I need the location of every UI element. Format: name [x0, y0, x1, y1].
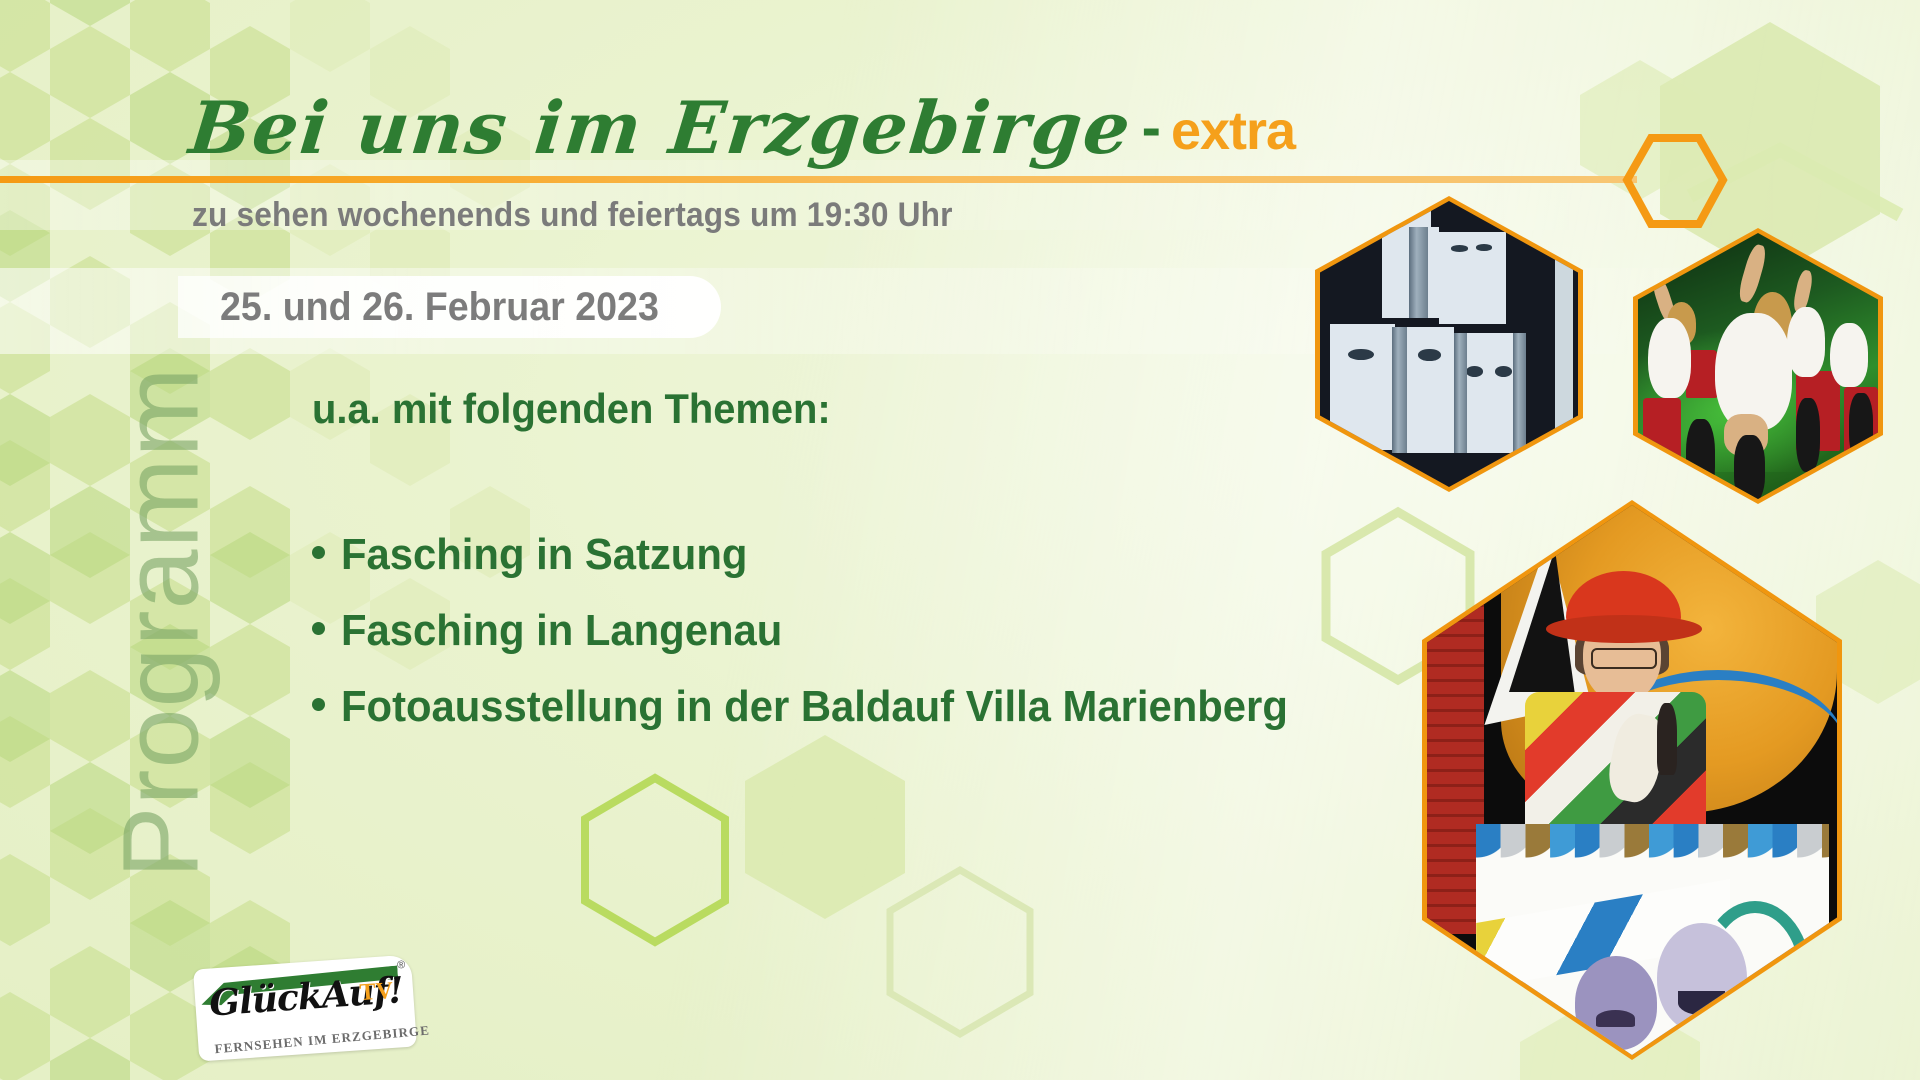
- list-item: Fasching in Satzung: [312, 530, 1338, 580]
- photo-artwork: [1320, 201, 1578, 487]
- poster-canvas: Programm Bei uns im Erzgebirge-extra zu …: [0, 0, 1920, 1080]
- list-item-label: Fotoausstellung in der Baldauf Villa Mar…: [341, 682, 1288, 732]
- photo-speaker: [1422, 500, 1842, 1060]
- bullet-dot-icon: [312, 698, 325, 711]
- title-extra-text: extra: [1171, 104, 1295, 158]
- photo-hex-clip: [1320, 201, 1578, 487]
- title-dash: -: [1142, 99, 1161, 157]
- date-badge: 25. und 26. Februar 2023: [178, 276, 721, 338]
- title-script-text: Bei uns im Erzgebirge: [186, 92, 1135, 164]
- list-item-label: Fasching in Satzung: [341, 530, 747, 580]
- date-badge-label: 25. und 26. Februar 2023: [220, 285, 659, 330]
- photo-exhibition: [1315, 196, 1583, 492]
- sidebar-vertical-label: Programm: [98, 273, 223, 973]
- photo-artwork: [1427, 505, 1837, 1055]
- bullet-dot-icon: [312, 622, 325, 635]
- topics-list: Fasching in Satzung Fasching in Langenau…: [312, 530, 1338, 758]
- photo-hex-clip: [1638, 233, 1878, 499]
- photo-hex-clip: [1427, 505, 1837, 1055]
- broadcast-time-subtitle: zu sehen wochenends und feiertags um 19:…: [192, 196, 953, 235]
- logo-tv-mark: TV: [359, 978, 394, 1007]
- orange-hexagon-icon: [1620, 134, 1730, 230]
- bullet-dot-icon: [312, 546, 325, 559]
- list-item-label: Fasching in Langenau: [341, 606, 782, 656]
- glueckauf-tv-logo: GlückAuf! TV ® FERNSEHEN IM ERZGEBIRGE: [193, 955, 417, 1062]
- list-item: Fotoausstellung in der Baldauf Villa Mar…: [312, 682, 1338, 732]
- photo-dancers: [1633, 228, 1883, 504]
- registered-trademark-icon: ®: [397, 959, 406, 972]
- list-item: Fasching in Langenau: [312, 606, 1338, 656]
- page-title: Bei uns im Erzgebirge-extra: [190, 92, 1295, 164]
- orange-divider-rule: [0, 176, 1637, 183]
- topics-heading: u.a. mit folgenden Themen:: [312, 385, 831, 433]
- photo-artwork: [1638, 233, 1878, 499]
